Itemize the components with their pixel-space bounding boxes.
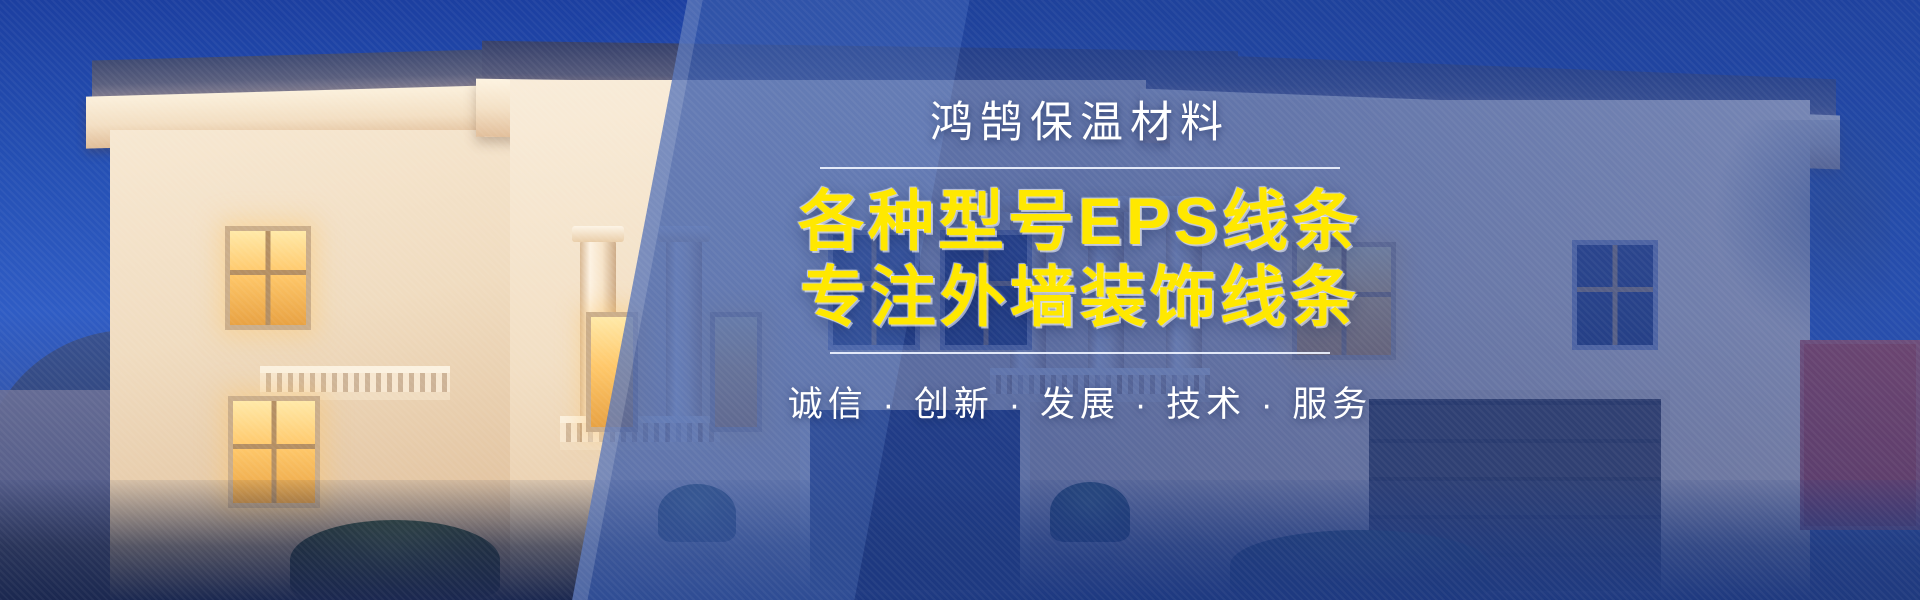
divider-bottom [830,352,1330,354]
headline-line-1: 各种型号EPS线条 [700,183,1460,260]
banner-copy: 鸿鹄保温材料 各种型号EPS线条 专注外墙装饰线条 诚信 · 创新 · 发展 ·… [700,98,1460,427]
headline-line-2: 专注外墙装饰线条 [700,259,1460,336]
window [225,226,311,330]
promotional-banner: 鸿鹄保温材料 各种型号EPS线条 专注外墙装饰线条 诚信 · 创新 · 发展 ·… [0,0,1920,600]
brand-name: 鸿鹄保温材料 [700,98,1460,149]
tagline: 诚信 · 创新 · 发展 · 技术 · 服务 [700,376,1460,427]
divider-top [820,167,1340,169]
balustrade [260,366,450,400]
